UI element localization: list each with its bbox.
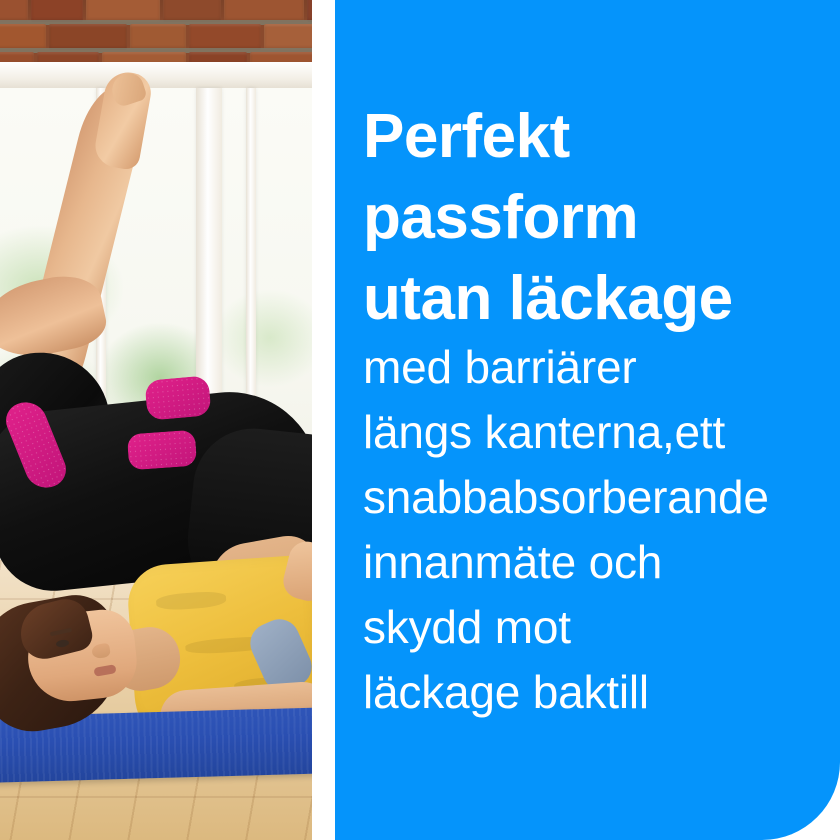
floor-plank-seam xyxy=(0,796,312,798)
legging-pink-panel xyxy=(144,375,211,420)
brick xyxy=(86,0,160,22)
body-line-3: snabbabsorberande xyxy=(363,465,839,530)
brick xyxy=(189,24,261,50)
brick xyxy=(31,0,83,22)
brick xyxy=(264,24,312,50)
brick xyxy=(163,0,221,22)
brick-wall xyxy=(0,0,312,66)
body-line-2: längs kanterna,ett xyxy=(363,400,839,465)
window-header-trim xyxy=(0,62,312,90)
lifestyle-photo xyxy=(0,0,312,840)
brick-row xyxy=(0,0,312,22)
body-line-6: läckage baktill xyxy=(363,660,839,725)
brick xyxy=(0,0,28,22)
promo-banner: Perfekt passform utan läckage med barriä… xyxy=(0,0,840,840)
brick xyxy=(0,24,46,50)
headline-line-1: Perfekt xyxy=(363,96,833,177)
body-line-1: med barriärer xyxy=(363,335,839,400)
body-line-5: skydd mot xyxy=(363,595,839,660)
brick-row xyxy=(0,24,312,50)
headline-line-3: utan läckage xyxy=(363,258,833,339)
body-line-4: innanmäte och xyxy=(363,530,839,595)
white-separator xyxy=(312,0,335,840)
brick xyxy=(49,24,127,50)
brick xyxy=(224,0,304,22)
fabric-fold xyxy=(156,590,227,611)
blue-text-panel: Perfekt passform utan läckage med barriä… xyxy=(335,0,840,840)
brick xyxy=(130,24,186,50)
legging-pink-panel xyxy=(127,430,197,471)
body-copy: med barriärer längs kanterna,ett snabbab… xyxy=(363,335,839,725)
headline-line-2: passform xyxy=(363,177,833,258)
headline: Perfekt passform utan läckage xyxy=(363,96,833,339)
